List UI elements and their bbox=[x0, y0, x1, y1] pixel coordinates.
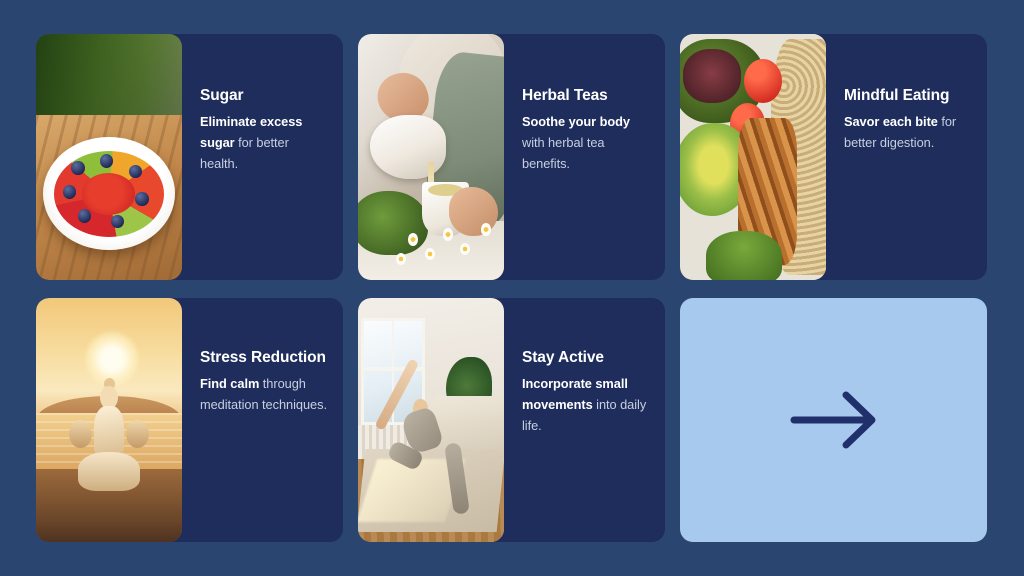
next-card-button[interactable] bbox=[680, 298, 987, 542]
pouring-herbal-tea-photo bbox=[358, 34, 504, 280]
arrow-right-icon[interactable] bbox=[788, 389, 880, 451]
card-title: Stay Active bbox=[522, 348, 651, 367]
card-description: Find calm through meditation techniques. bbox=[200, 374, 329, 415]
card-mindful-eating[interactable]: Mindful Eating Savor each bite for bette… bbox=[680, 34, 987, 280]
home-yoga-pose-photo bbox=[358, 298, 504, 542]
card-description-strong: Soothe your body bbox=[522, 114, 630, 129]
healthy-salad-bowl-photo bbox=[680, 34, 826, 280]
card-text-herbal-teas: Herbal Teas Soothe your body with herbal… bbox=[504, 34, 665, 280]
card-text-stress-reduction: Stress Reduction Find calm through medit… bbox=[182, 298, 343, 542]
beach-meditation-sunset-photo bbox=[36, 298, 182, 542]
cards-grid: Sugar Eliminate excess sugar for better … bbox=[36, 34, 987, 542]
card-text-stay-active: Stay Active Incorporate small movements … bbox=[504, 298, 665, 542]
card-description: Eliminate excess sugar for better health… bbox=[200, 112, 329, 174]
card-description: Savor each bite for better digestion. bbox=[844, 112, 973, 153]
card-stress-reduction[interactable]: Stress Reduction Find calm through medit… bbox=[36, 298, 343, 542]
card-herbal-teas[interactable]: Herbal Teas Soothe your body with herbal… bbox=[358, 34, 665, 280]
card-description: Soothe your body with herbal tea benefit… bbox=[522, 112, 651, 174]
card-description-strong: Find calm bbox=[200, 376, 259, 391]
card-description-strong: Savor each bite bbox=[844, 114, 938, 129]
card-title: Stress Reduction bbox=[200, 348, 329, 367]
card-text-sugar: Sugar Eliminate excess sugar for better … bbox=[182, 34, 343, 280]
card-description-rest: with herbal tea benefits. bbox=[522, 135, 604, 171]
card-title: Mindful Eating bbox=[844, 86, 973, 105]
card-sugar[interactable]: Sugar Eliminate excess sugar for better … bbox=[36, 34, 343, 280]
card-text-mindful-eating: Mindful Eating Savor each bite for bette… bbox=[826, 34, 987, 280]
card-description: Incorporate small movements into daily l… bbox=[522, 374, 651, 436]
card-title: Sugar bbox=[200, 86, 329, 105]
fruit-platter-photo bbox=[36, 34, 182, 280]
card-stay-active[interactable]: Stay Active Incorporate small movements … bbox=[358, 298, 665, 542]
card-title: Herbal Teas bbox=[522, 86, 651, 105]
